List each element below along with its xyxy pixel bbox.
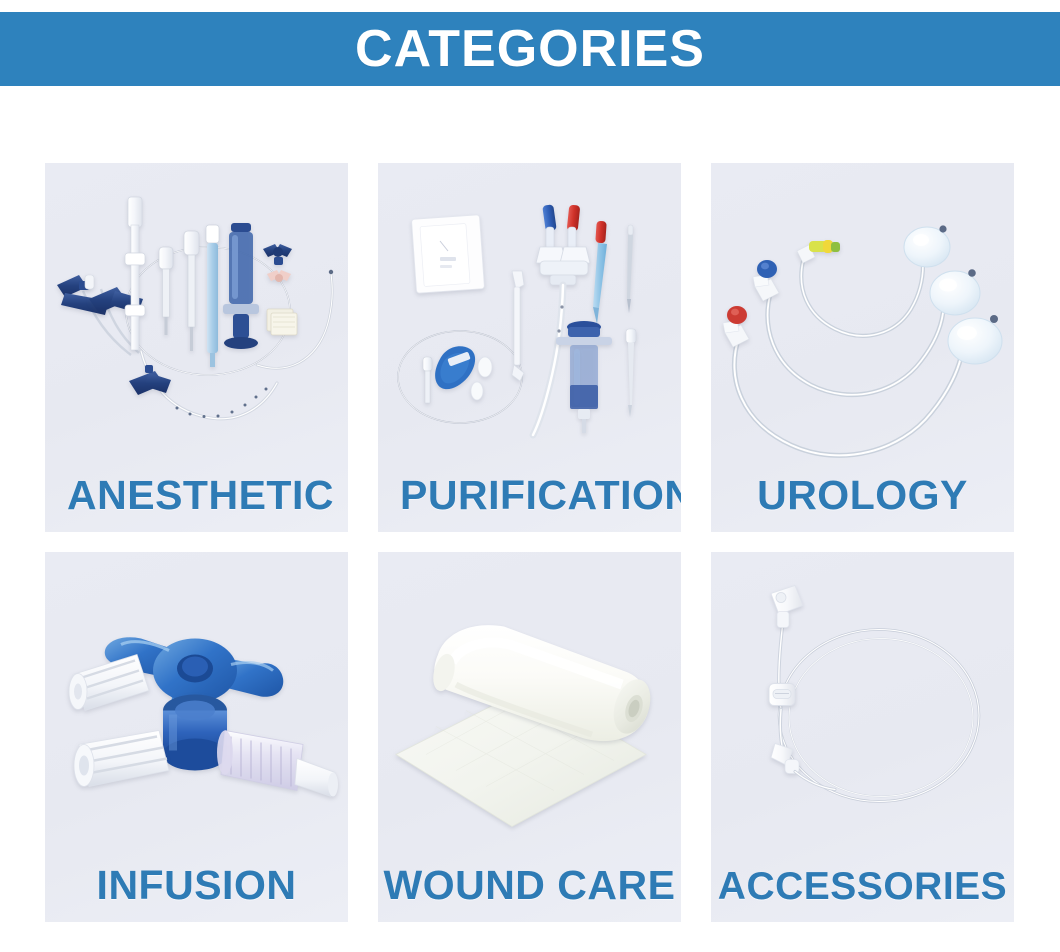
category-label-anesthetic: ANESTHETIC (45, 475, 348, 532)
category-card-purification[interactable]: PURIFICATION (378, 163, 681, 532)
category-label-accessories: ACCESSORIES (711, 867, 1014, 922)
categories-banner: CATEGORIES (0, 12, 1060, 86)
purification-kit-image (378, 163, 681, 475)
category-label-urology: UROLOGY (711, 475, 1014, 532)
category-card-anesthetic[interactable]: ANESTHETIC (45, 163, 348, 532)
page-title: CATEGORIES (355, 23, 705, 75)
urology-catheters-image (711, 163, 1014, 475)
accessories-tubing-image (711, 552, 1014, 867)
category-label-wound-care: WOUND CARE (378, 865, 681, 922)
category-card-infusion[interactable]: INFUSION (45, 552, 348, 922)
wound-care-gauze-image (378, 552, 681, 865)
category-label-purification: PURIFICATION (378, 475, 681, 532)
category-card-accessories[interactable]: ACCESSORIES (711, 552, 1014, 922)
category-card-wound-care[interactable]: WOUND CARE (378, 552, 681, 922)
category-card-urology[interactable]: UROLOGY (711, 163, 1014, 532)
category-grid: ANESTHETIC (45, 163, 1020, 922)
infusion-stopcock-image (45, 552, 348, 865)
category-label-infusion: INFUSION (45, 865, 348, 922)
anesthetic-kit-image (45, 163, 348, 475)
